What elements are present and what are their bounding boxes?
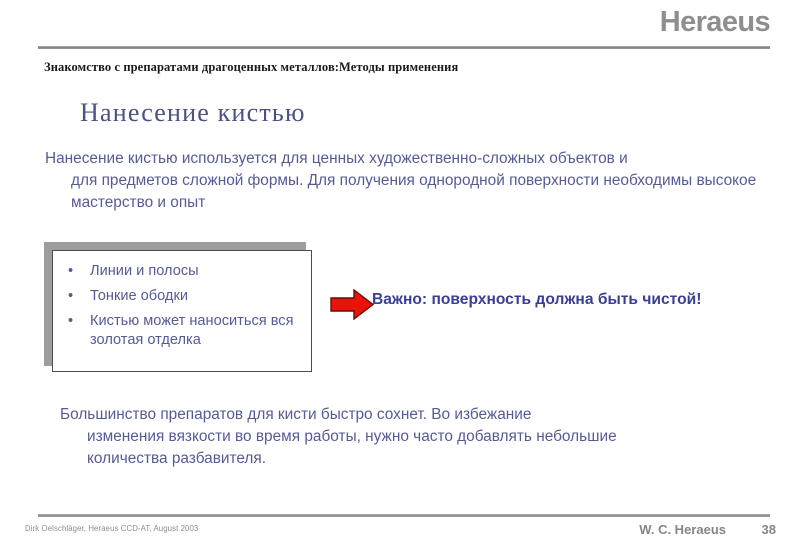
slide-subtitle: Знакомство с препаратами драгоценных мет… bbox=[44, 60, 744, 75]
header-divider-rule bbox=[38, 46, 770, 49]
applications-bullet-list: • Линии и полосы • Тонкие ободки • Кисть… bbox=[53, 251, 311, 350]
list-item: • Тонкие ободки bbox=[61, 287, 305, 306]
list-item-label: Линии и полосы bbox=[90, 263, 199, 279]
callout-box-frame: • Линии и полосы • Тонкие ободки • Кисть… bbox=[52, 250, 312, 372]
list-item-label: Тонкие ободки bbox=[90, 288, 188, 304]
list-item: • Линии и полосы bbox=[61, 262, 305, 281]
bullet-dot-icon: • bbox=[68, 312, 73, 331]
drying-paragraph-line-2: изменения вязкости во время работы, нужн… bbox=[60, 426, 680, 470]
footer-company-name: W. C. Heraeus bbox=[639, 522, 726, 537]
drying-paragraph: Большинство препаратов для кисти быстро … bbox=[60, 404, 680, 470]
bullet-dot-icon: • bbox=[68, 287, 73, 306]
intro-paragraph-line-1: Нанесение кистью используется для ценных… bbox=[45, 150, 628, 167]
drying-paragraph-line-1: Большинство препаратов для кисти быстро … bbox=[60, 406, 531, 423]
footer-page-number: 38 bbox=[762, 522, 776, 537]
list-item: • Кистью может наноситься вся золотая от… bbox=[61, 312, 305, 350]
footer-author-text: Dirk Oelschläger, Heraeus CCD-AT, August… bbox=[25, 524, 198, 533]
footer-divider-rule bbox=[38, 514, 770, 517]
bullet-dot-icon: • bbox=[68, 262, 73, 281]
slide-canvas: Heraeus Знакомство с препаратами драгоце… bbox=[0, 0, 800, 554]
red-right-arrow-icon bbox=[330, 289, 374, 320]
page-title: Нанесение кистью bbox=[80, 98, 306, 128]
applications-callout-box: • Линии и полосы • Тонкие ободки • Кисть… bbox=[44, 242, 314, 374]
important-note-text: Важно: поверхность должна быть чистой! bbox=[372, 291, 701, 309]
list-item-label: Кистью может наноситься вся золотая отде… bbox=[90, 313, 294, 348]
intro-paragraph-line-2: для предметов сложной формы. Для получен… bbox=[45, 170, 763, 214]
intro-paragraph: Нанесение кистью используется для ценных… bbox=[45, 148, 763, 214]
heraeus-logo: Heraeus bbox=[660, 8, 770, 37]
